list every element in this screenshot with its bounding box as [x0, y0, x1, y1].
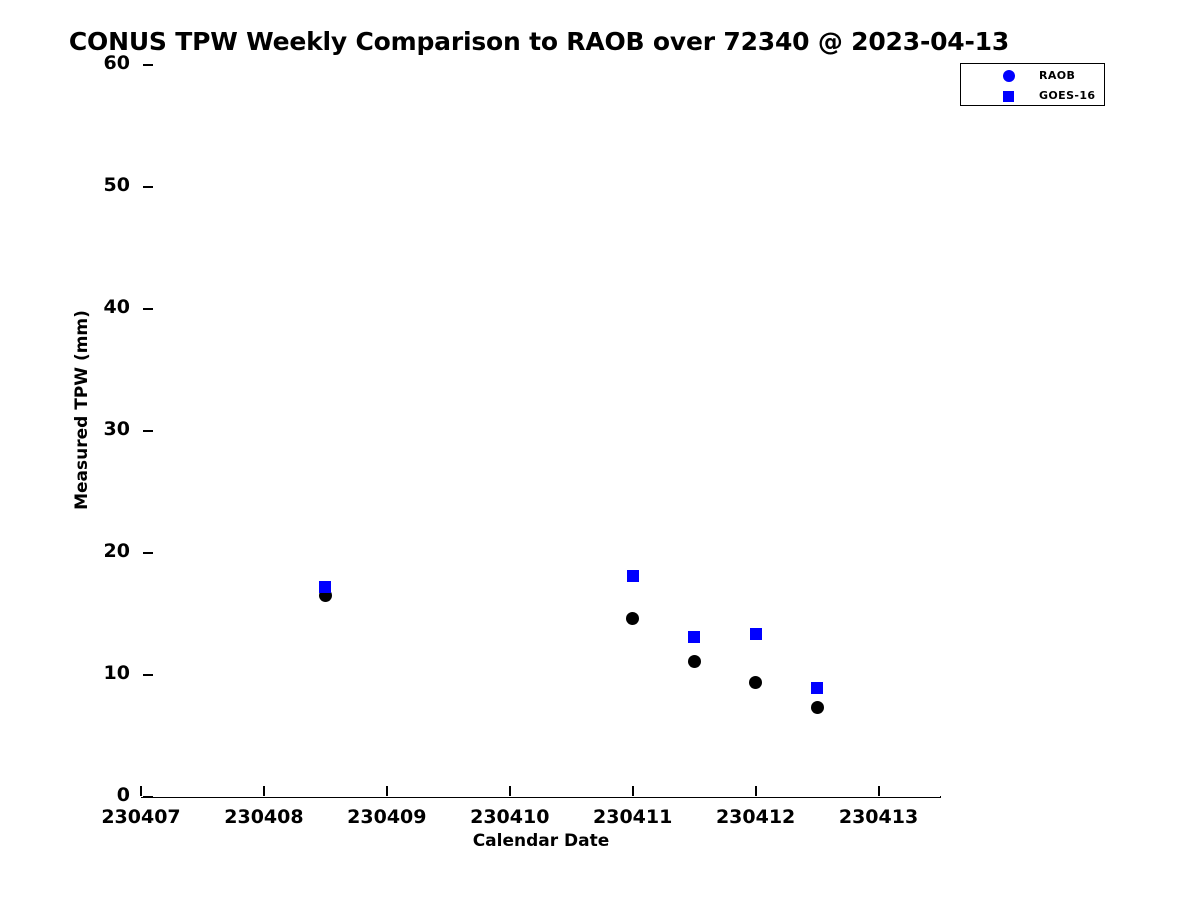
y-tick-mark — [143, 796, 153, 798]
y-tick-mark — [143, 64, 153, 66]
y-tick-label: 50 — [10, 174, 130, 196]
y-tick-mark — [143, 308, 153, 310]
data-point-raob — [749, 676, 762, 689]
x-tick-mark — [632, 786, 634, 796]
y-tick-label: 60 — [10, 52, 130, 74]
legend-item: GOES-16 — [961, 86, 1106, 106]
data-point-goes-16 — [627, 570, 639, 582]
y-tick-mark — [143, 674, 153, 676]
data-point-goes-16 — [750, 628, 762, 640]
y-tick-label: 30 — [10, 418, 130, 440]
x-tick-label: 230413 — [789, 806, 969, 828]
x-tick-mark — [140, 786, 142, 796]
x-tick-mark — [263, 786, 265, 796]
legend-circle-icon — [999, 66, 1019, 86]
y-tick-label: 20 — [10, 540, 130, 562]
y-tick-label: 40 — [10, 296, 130, 318]
x-tick-mark — [878, 786, 880, 796]
x-axis-label: Calendar Date — [141, 831, 941, 851]
x-tick-mark — [755, 786, 757, 796]
legend-label: GOES-16 — [1039, 89, 1096, 102]
data-point-goes-16 — [688, 631, 700, 643]
y-tick-label: 0 — [10, 784, 130, 806]
data-point-raob — [811, 701, 824, 714]
legend-label: RAOB — [1039, 69, 1075, 82]
chart-legend: RAOBGOES-16 — [960, 63, 1105, 106]
legend-square-icon — [999, 86, 1019, 106]
legend-marker-glyph — [1003, 91, 1014, 102]
y-tick-mark — [143, 552, 153, 554]
legend-item: RAOB — [961, 66, 1106, 86]
data-point-raob — [688, 655, 701, 668]
data-point-goes-16 — [319, 581, 331, 593]
y-tick-mark — [143, 186, 153, 188]
chart-title: CONUS TPW Weekly Comparison to RAOB over… — [0, 27, 1078, 56]
legend-marker-glyph — [1003, 70, 1015, 82]
y-tick-mark — [143, 430, 153, 432]
y-tick-label: 10 — [10, 662, 130, 684]
x-tick-mark — [509, 786, 511, 796]
chart-figure: CONUS TPW Weekly Comparison to RAOB over… — [0, 0, 1200, 900]
y-axis-label: Measured TPW (mm) — [72, 60, 92, 760]
data-point-goes-16 — [811, 682, 823, 694]
x-tick-mark — [386, 786, 388, 796]
